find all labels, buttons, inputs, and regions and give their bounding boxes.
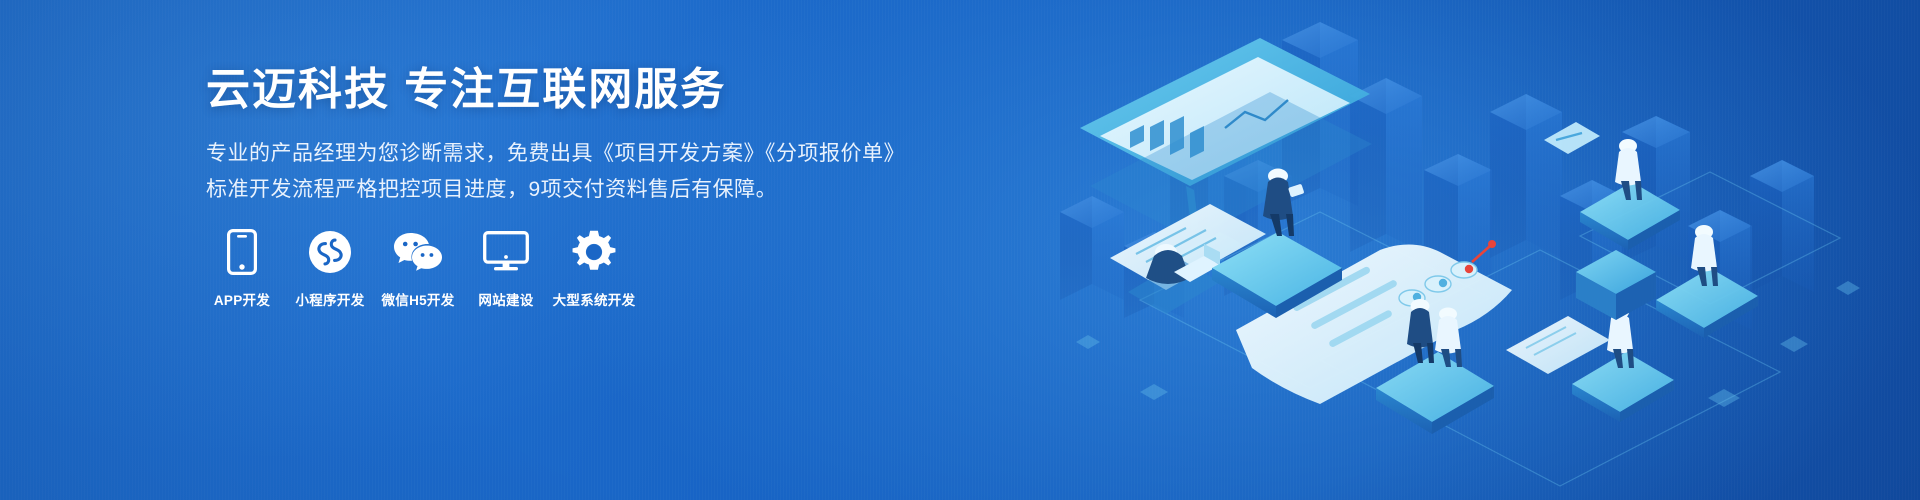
mini-program-icon bbox=[308, 228, 352, 276]
subtitle-line-2: 标准开发流程严格把控项目进度，9项交付资料售后有保障。 bbox=[206, 172, 926, 208]
service-item-large-system[interactable]: 大型系统开发 bbox=[558, 228, 630, 309]
hero-banner: 云迈科技 专注互联网服务 专业的产品经理为您诊断需求，免费出具《项目开发方案》《… bbox=[0, 0, 1920, 500]
desktop-monitor-icon bbox=[483, 228, 529, 276]
isometric-team-dashboard-illustration bbox=[1020, 0, 1920, 500]
wechat-bubbles-icon bbox=[393, 228, 443, 276]
service-label: 大型系统开发 bbox=[553, 289, 636, 309]
subtitle-line-1: 专业的产品经理为您诊断需求，免费出具《项目开发方案》《分项报价单》 bbox=[206, 136, 926, 172]
service-item-mini-program[interactable]: 小程序开发 bbox=[294, 228, 366, 309]
page-title: 云迈科技 专注互联网服务 bbox=[206, 64, 926, 116]
service-label: 小程序开发 bbox=[296, 289, 365, 309]
service-item-app[interactable]: APP开发 bbox=[206, 228, 278, 309]
service-label: 微信H5开发 bbox=[381, 289, 454, 309]
hero-copy: 云迈科技 专注互联网服务 专业的产品经理为您诊断需求，免费出具《项目开发方案》《… bbox=[206, 64, 926, 208]
service-list: APP开发 小程序开发 bbox=[206, 228, 630, 309]
service-item-website[interactable]: 网站建设 bbox=[470, 228, 542, 309]
mini-screen-card bbox=[1506, 316, 1610, 374]
gear-icon bbox=[572, 228, 616, 276]
service-label: 网站建设 bbox=[478, 289, 533, 309]
service-item-wechat-h5[interactable]: 微信H5开发 bbox=[382, 228, 454, 309]
service-label: APP开发 bbox=[214, 289, 270, 309]
mobile-phone-icon bbox=[227, 228, 257, 276]
hero-subtitle: 专业的产品经理为您诊断需求，免费出具《项目开发方案》《分项报价单》 标准开发流程… bbox=[206, 136, 926, 208]
